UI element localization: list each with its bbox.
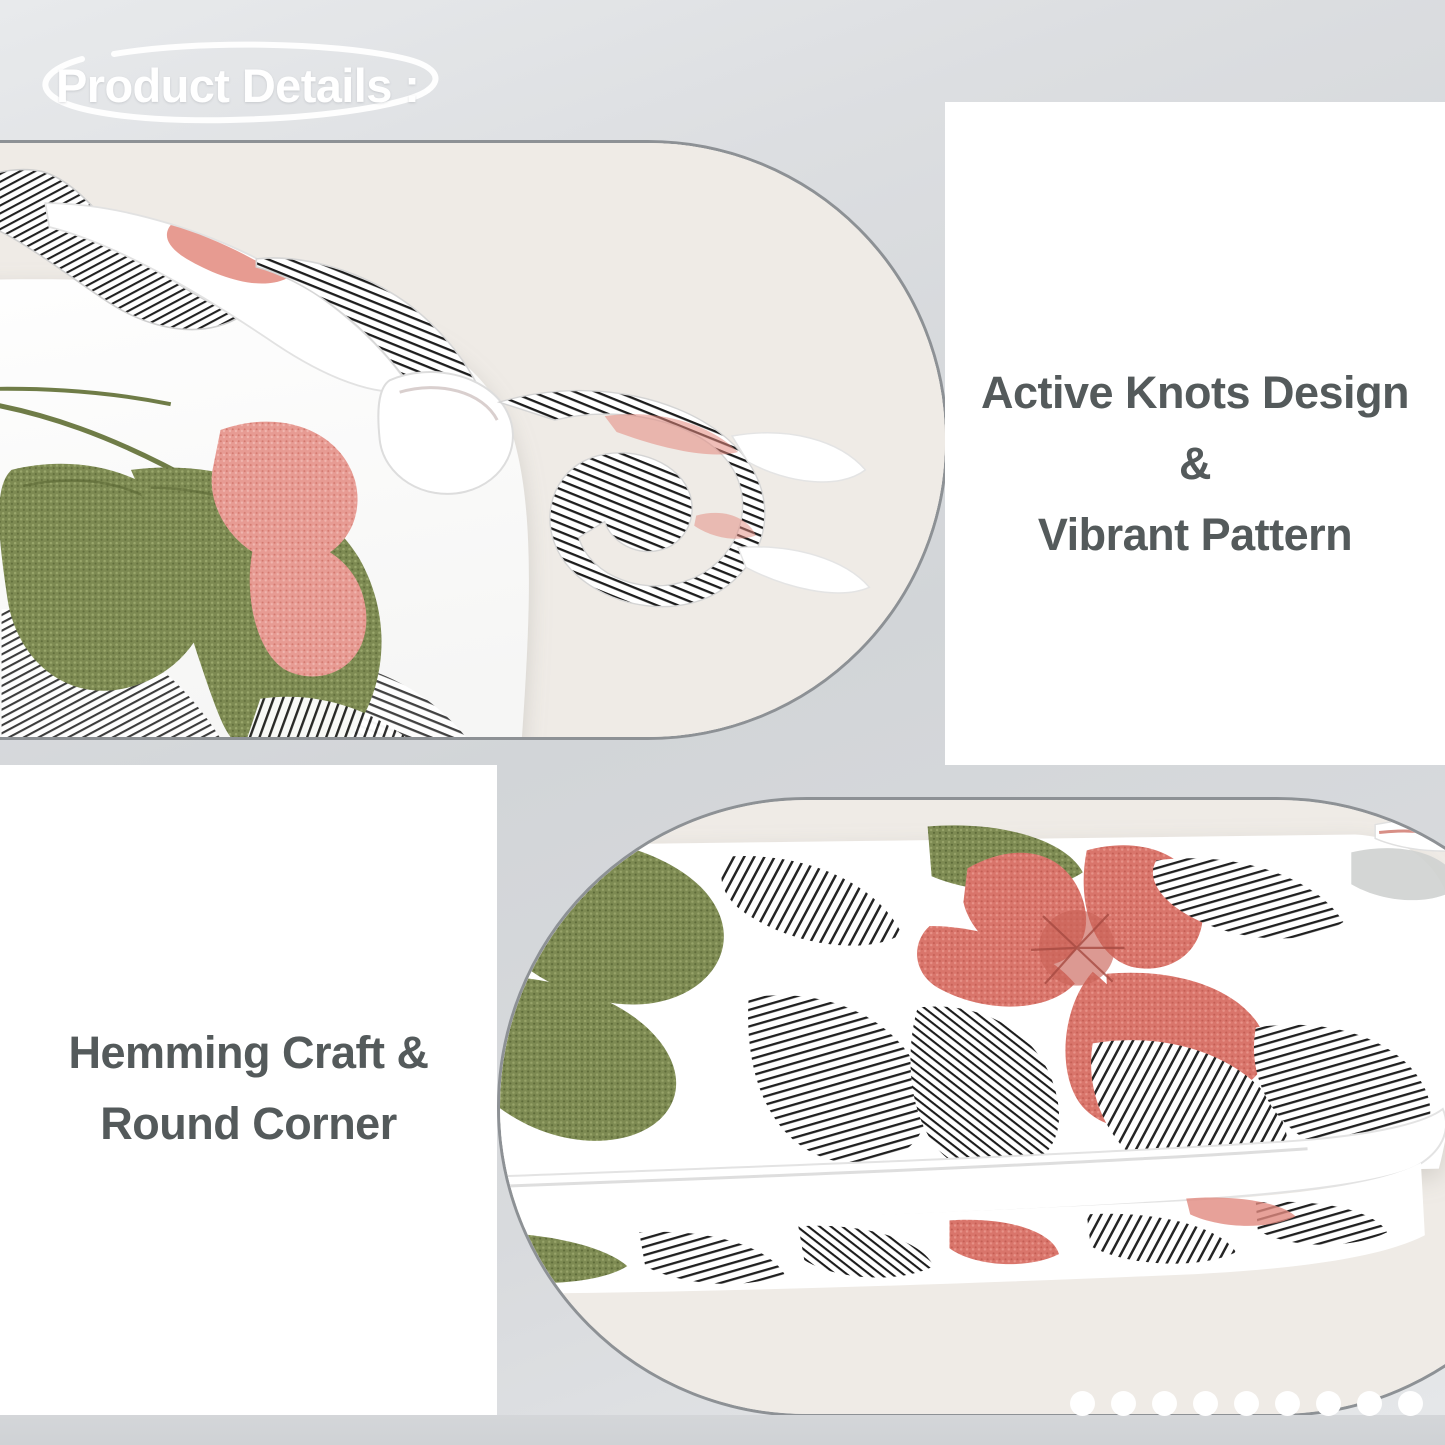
carousel-dot[interactable] [1111, 1391, 1136, 1416]
photo-knot-detail [0, 140, 948, 740]
bottom-strip [0, 1415, 1445, 1445]
cushion-hem-illustration [500, 800, 1445, 1414]
caption-line-2: Round Corner [30, 1088, 467, 1159]
caption-line-2: Vibrant Pattern [971, 499, 1419, 570]
carousel-dot[interactable] [1357, 1391, 1382, 1416]
carousel-dot[interactable] [1398, 1391, 1423, 1416]
carousel-dot[interactable] [1070, 1391, 1095, 1416]
carousel-dot[interactable] [1193, 1391, 1218, 1416]
carousel-dots[interactable] [1070, 1391, 1423, 1416]
cushion-knot-illustration [0, 143, 945, 737]
carousel-dot[interactable] [1316, 1391, 1341, 1416]
page-title: Product Details : [56, 58, 419, 113]
carousel-dot[interactable] [1152, 1391, 1177, 1416]
caption-line-1: Active Knots Design & [971, 357, 1419, 499]
photo-knot-backdrop [0, 143, 945, 737]
caption-line-1: Hemming Craft & [30, 1017, 467, 1088]
carousel-dot[interactable] [1234, 1391, 1259, 1416]
caption-active-knots: Active Knots Design & Vibrant Pattern [945, 357, 1445, 570]
carousel-dot[interactable] [1275, 1391, 1300, 1416]
photo-hem-corner [497, 797, 1445, 1417]
caption-panel-active-knots: Active Knots Design & Vibrant Pattern [945, 102, 1445, 765]
page-title-group: Product Details : [30, 32, 460, 128]
caption-panel-hemming-craft: Hemming Craft & Round Corner [0, 765, 497, 1415]
caption-hemming-craft: Hemming Craft & Round Corner [0, 1017, 497, 1159]
product-details-page: Active Knots Design & Vibrant Pattern He… [0, 0, 1445, 1445]
